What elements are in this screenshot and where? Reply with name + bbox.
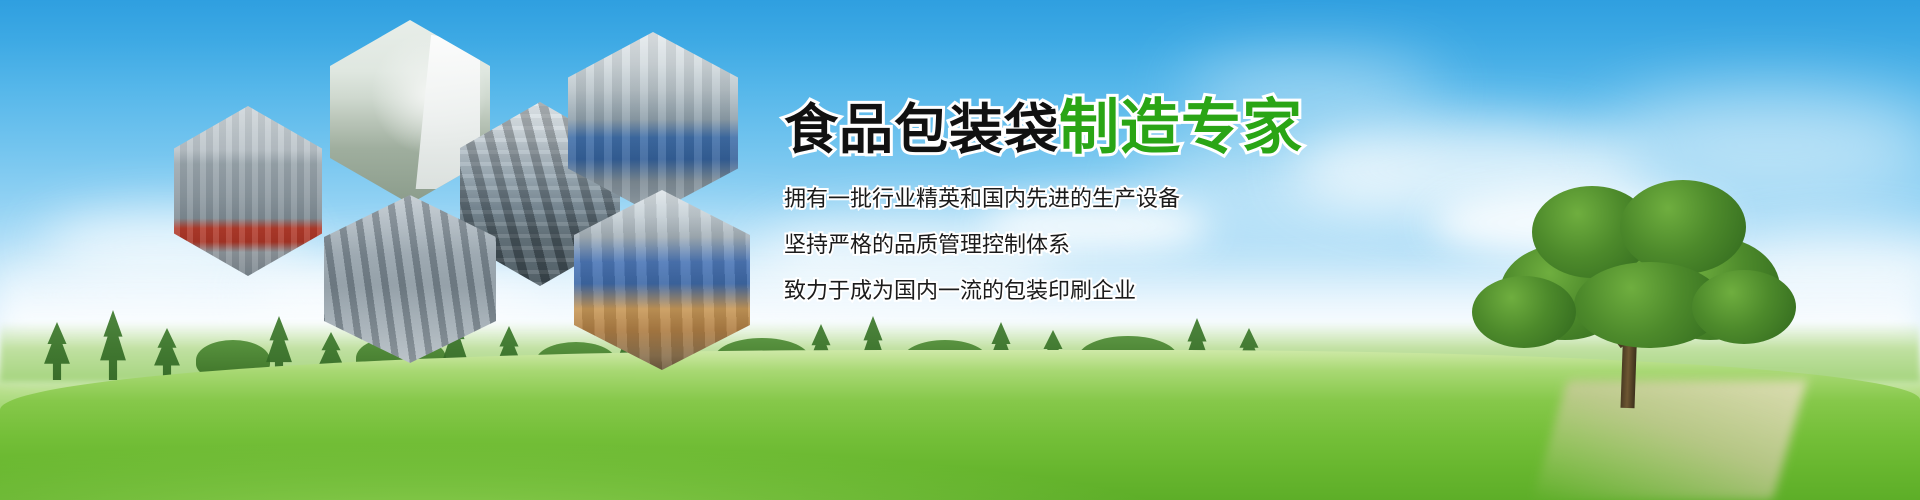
banner-headline: 食品包装袋制造专家 (784, 98, 1484, 158)
large-tree (1470, 174, 1800, 404)
headline-primary-text: 食品包装袋 (784, 100, 1059, 160)
headline-accent-text: 制造专家 (1059, 94, 1303, 161)
banner-text-block: 食品包装袋制造专家 拥有一批行业精英和国内先进的生产设备 坚持严格的品质管理控制… (784, 98, 1484, 302)
promotional-banner: 食品包装袋制造专家 拥有一批行业精英和国内先进的生产设备 坚持严格的品质管理控制… (0, 0, 1920, 500)
hexagon-photo-cluster (160, 10, 780, 360)
banner-subline-1: 拥有一批行业精英和国内先进的生产设备 (784, 188, 1484, 210)
banner-subline-3: 致力于成为国内一流的包装印刷企业 (784, 280, 1484, 302)
banner-subline-2: 坚持严格的品质管理控制体系 (784, 234, 1484, 256)
hex-photo-warehouse-aisle[interactable] (174, 106, 322, 276)
